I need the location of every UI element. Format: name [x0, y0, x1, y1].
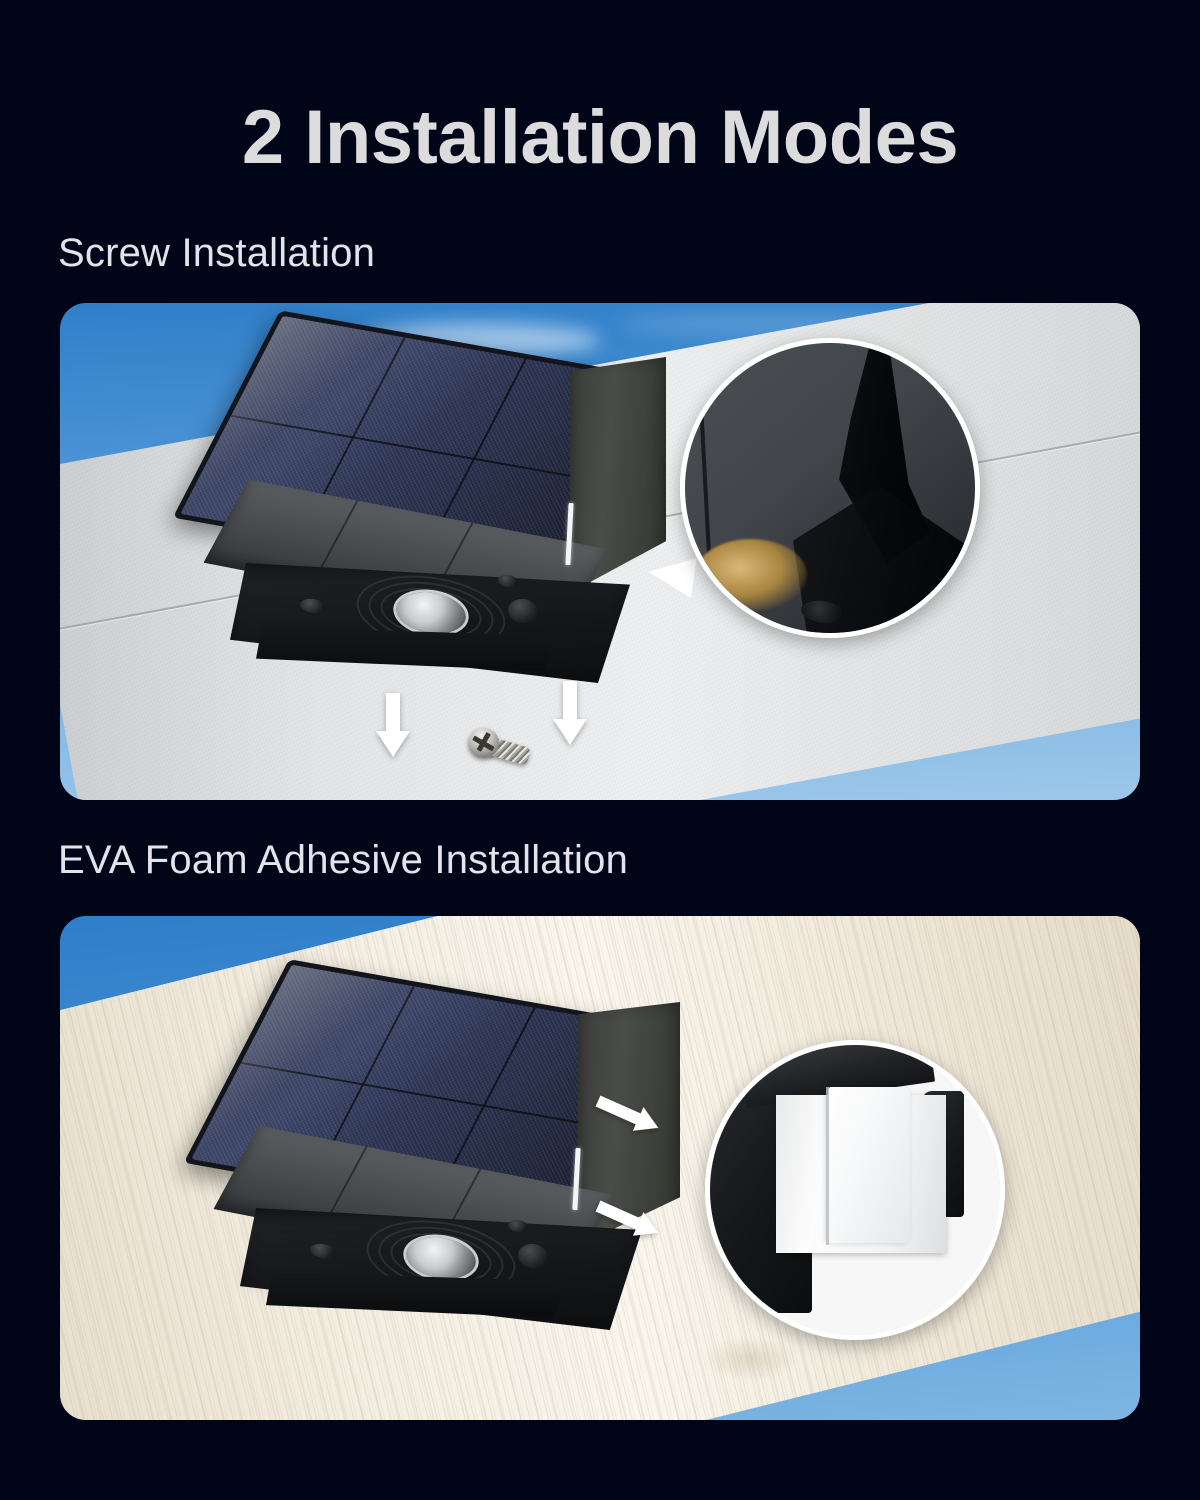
solar-wall-light	[182, 974, 702, 1354]
eva-foam-scene	[60, 916, 1140, 1420]
section-label-eva-foam: EVA Foam Adhesive Installation	[58, 840, 628, 880]
adhesive-liner	[828, 1087, 910, 1243]
screw-installation-photo	[60, 303, 1140, 800]
liner-peel-edge	[826, 1087, 829, 1245]
screw-bracket-closeup	[680, 338, 980, 638]
wood-knot	[700, 1336, 800, 1382]
eva-foam-adhesive-installation-photo	[60, 916, 1140, 1420]
screw-scene	[60, 303, 1140, 800]
lamp-glow	[695, 539, 807, 611]
infographic-page: 2 Installation Modes Screw Installation	[0, 0, 1200, 1500]
page-title: 2 Installation Modes	[0, 100, 1200, 176]
section-label-screw: Screw Installation	[58, 233, 375, 273]
eva-foam-pad-closeup	[705, 1040, 1005, 1340]
solar-wall-light	[178, 327, 698, 707]
